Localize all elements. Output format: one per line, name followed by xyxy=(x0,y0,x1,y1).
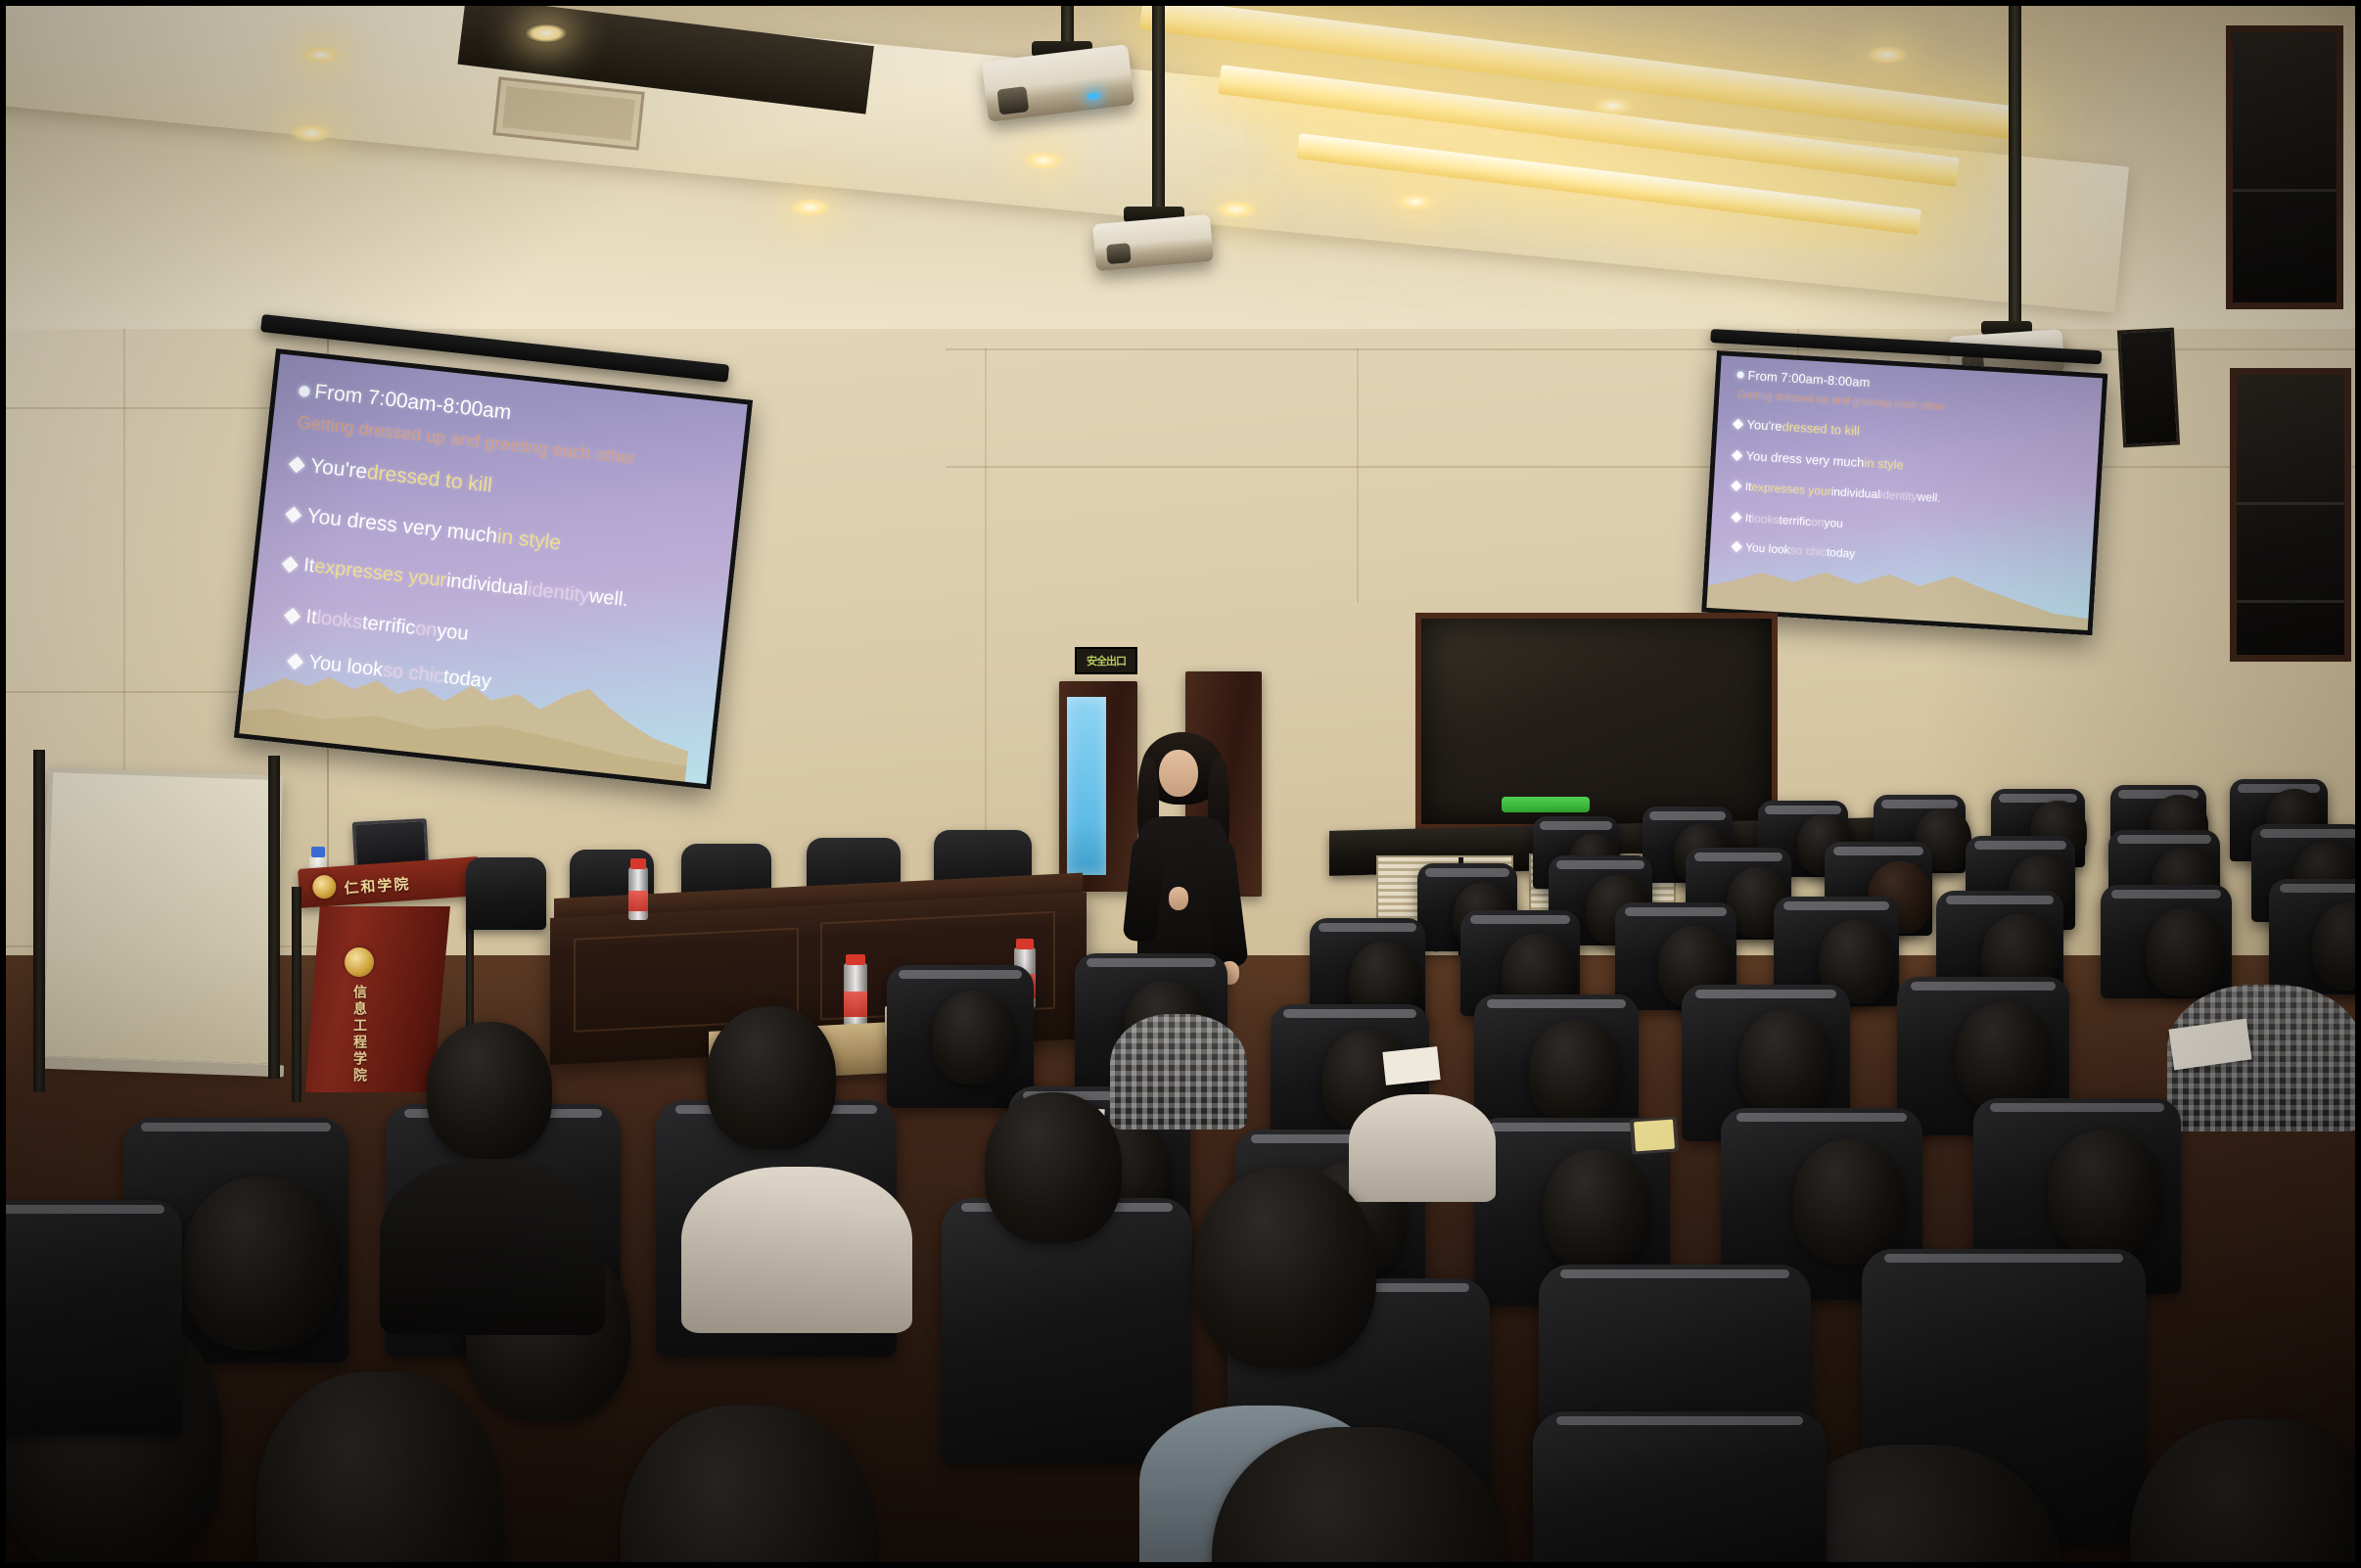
audience-head xyxy=(1793,1139,1905,1265)
bottle-label xyxy=(844,992,867,1017)
ceiling-downlight xyxy=(1866,45,1909,65)
audience-head xyxy=(707,1006,836,1149)
presenter-hand-microphone xyxy=(1169,887,1188,910)
exit-door-left xyxy=(1059,681,1137,892)
audience-head xyxy=(1738,1010,1832,1116)
university-emblem-icon xyxy=(312,874,338,899)
projector-pole xyxy=(1061,6,1074,45)
wall-window-lower xyxy=(2230,368,2351,662)
ceiling-downlight xyxy=(1022,151,1065,170)
audience-head xyxy=(1194,1167,1376,1368)
audience-head xyxy=(1956,1002,2052,1110)
wall-window-upper xyxy=(2226,25,2343,309)
screen-border xyxy=(234,348,753,790)
ceiling-downlight xyxy=(789,198,832,217)
audience-head xyxy=(985,1092,1122,1243)
ceiling-downlight xyxy=(525,23,568,43)
audience-head xyxy=(427,1022,552,1159)
audience-seat xyxy=(1533,1411,1827,1568)
ceiling-downlight xyxy=(1215,200,1258,219)
handheld-device xyxy=(1630,1116,1679,1154)
main-projection-screen: From 7:00am-8:00am Getting dressed up an… xyxy=(234,348,753,790)
water-bottle xyxy=(844,963,867,1028)
presenter-face xyxy=(1159,750,1198,797)
window-mullion xyxy=(2233,189,2337,192)
booth-green-object xyxy=(1502,797,1590,812)
secondary-projection-screen: From 7:00am-8:00am Getting dressed up an… xyxy=(1701,350,2107,635)
podium-side-post xyxy=(292,887,301,1102)
projector-pole xyxy=(2009,6,2021,329)
whiteboard xyxy=(38,767,283,1069)
projector-lens-icon xyxy=(996,86,1029,115)
window-mullion xyxy=(2237,600,2344,603)
audience-person-shoulders xyxy=(380,1159,605,1335)
paper-sheet xyxy=(1382,1046,1440,1085)
screen-border xyxy=(1701,350,2107,635)
ceiling xyxy=(6,6,2355,329)
audience-seat xyxy=(0,1200,182,1435)
bottle-label xyxy=(628,891,648,912)
audience-head xyxy=(2048,1130,2161,1257)
water-bottle xyxy=(628,867,648,920)
door-glass-panel xyxy=(1067,697,1106,875)
wall-seam xyxy=(1357,348,1359,603)
audience-person-plaid xyxy=(1110,1014,1247,1130)
ceiling-downlight xyxy=(290,123,333,143)
projector-lens-icon xyxy=(1106,243,1132,264)
podium: 信息工程学院 xyxy=(305,906,450,1092)
ceiling-downlight xyxy=(1394,192,1437,211)
bottle-cap xyxy=(846,954,864,965)
whiteboard-leg xyxy=(33,750,45,1092)
ceiling-downlight xyxy=(300,45,343,65)
audience-head xyxy=(1529,1020,1621,1124)
university-emblem-icon xyxy=(345,947,374,977)
audience-head xyxy=(2146,908,2224,996)
projector-power-led-icon xyxy=(1087,92,1100,101)
bottle-cap xyxy=(1016,939,1034,949)
wall-speaker xyxy=(2117,328,2180,448)
exit-sign: 安全出口 xyxy=(1075,647,1137,674)
panel-chair xyxy=(466,857,546,930)
audience-head xyxy=(1543,1149,1650,1270)
audience-person-light-top xyxy=(1349,1094,1496,1202)
control-booth-window xyxy=(1415,613,1778,830)
wall-seam xyxy=(985,348,987,838)
audience-head xyxy=(182,1176,339,1351)
lecture-hall-photo: From 7:00am-8:00am Getting dressed up an… xyxy=(0,0,2361,1568)
wall-seam xyxy=(946,466,2361,468)
projector-pole xyxy=(1152,6,1165,211)
bottle-cap xyxy=(630,858,646,869)
whiteboard-leg xyxy=(268,756,280,1079)
audience-head xyxy=(932,991,1016,1084)
audience-person-light-top xyxy=(681,1167,912,1333)
bottle-cap xyxy=(311,847,325,857)
ceiling-downlight xyxy=(1592,96,1635,115)
window-mullion xyxy=(2237,502,2344,505)
